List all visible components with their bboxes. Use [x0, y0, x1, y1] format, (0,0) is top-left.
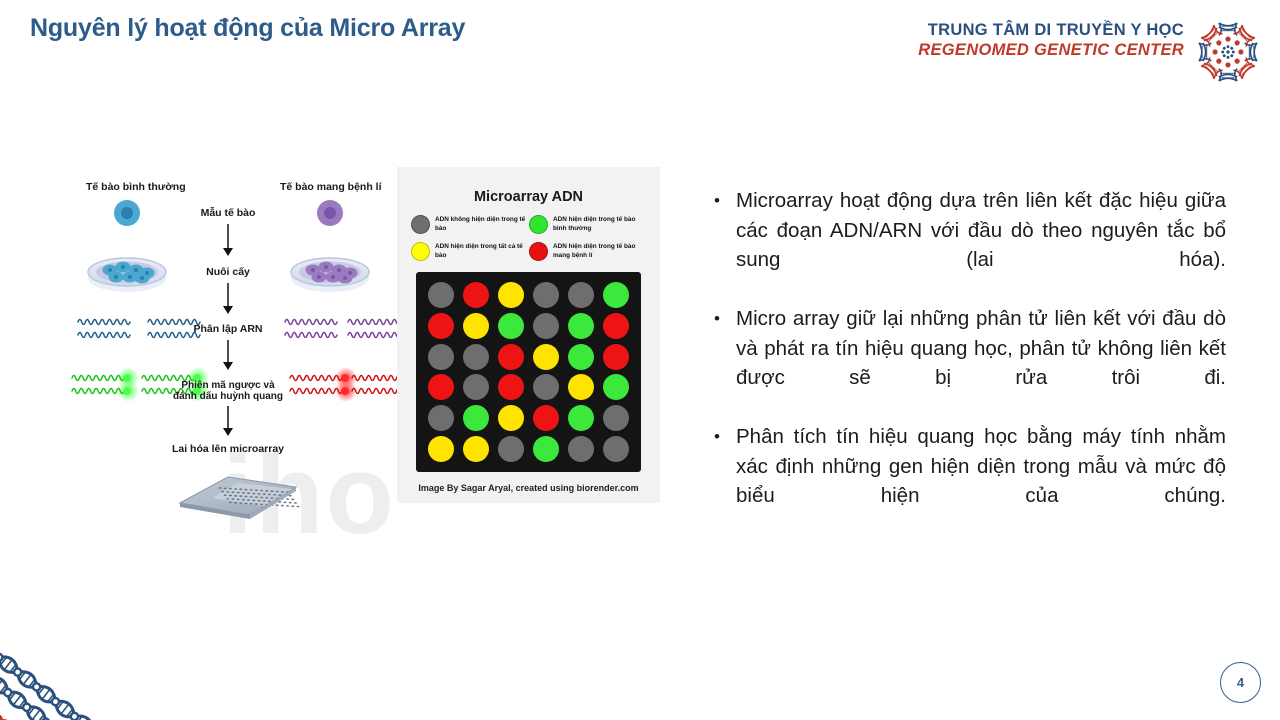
microarray-spot	[568, 282, 594, 308]
legend-label: ADN không hiện diện trong tế bào	[435, 216, 529, 233]
microarray-caption: Image By Sagar Aryal, created using bior…	[397, 483, 660, 493]
microarray-spot	[463, 405, 489, 431]
label-step-3: Phân lập ARN	[193, 323, 262, 335]
microarray-spot	[498, 282, 524, 308]
brand-name-en: REGENOMED GENETIC CENTER	[918, 40, 1184, 60]
workflow-diagram-svg: Tế bào bình thường Tế bào mang bệnh lí	[0, 150, 400, 550]
bullet-list: •Microarray hoạt động dựa trên liên kết …	[706, 186, 1226, 540]
slide-root: Nguyên lý hoạt động của Micro Array TRUN…	[0, 0, 1280, 720]
legend-color-swatch	[411, 242, 430, 261]
microarray-spot	[533, 282, 559, 308]
microarray-spot	[533, 405, 559, 431]
microarray-spot	[533, 374, 559, 400]
bullet-text: Micro array giữ lại những phân tử liên k…	[736, 304, 1226, 422]
label-step-1: Mẫu tế bào	[201, 206, 256, 219]
microarray-spot	[498, 405, 524, 431]
microarray-spot	[603, 436, 629, 462]
page-number-badge: 4	[1220, 662, 1261, 703]
microarray-spot-grid	[416, 272, 641, 472]
bullet-item: •Microarray hoạt động dựa trên liên kết …	[706, 186, 1226, 304]
label-step-4-line2: đánh dấu huỳnh quang	[173, 390, 283, 402]
microarray-spot	[568, 436, 594, 462]
bullet-marker-icon: •	[706, 304, 736, 422]
page-title: Nguyên lý hoạt động của Micro Array	[30, 14, 465, 43]
microarray-slide-illustration	[180, 477, 300, 519]
microarray-spot	[568, 344, 594, 370]
microarray-spot	[428, 405, 454, 431]
label-step-4-line1: Phiên mã ngược và	[181, 380, 275, 391]
microarray-spot	[603, 374, 629, 400]
microarray-spot	[428, 313, 454, 339]
bullet-text: Phân tích tín hiệu quang học bằng máy tí…	[736, 422, 1226, 540]
microarray-spot	[463, 344, 489, 370]
microarray-legend: ADN không hiện diện trong tế bàoADN hiện…	[411, 215, 647, 269]
microarray-spot	[428, 282, 454, 308]
microarray-spot	[498, 313, 524, 339]
bullet-item: •Phân tích tín hiệu quang học bằng máy t…	[706, 422, 1226, 540]
microarray-spot	[603, 282, 629, 308]
legend-label: ADN hiện diện trong tế bào bình thường	[553, 216, 647, 233]
microarray-spot	[498, 344, 524, 370]
microarray-spot	[463, 282, 489, 308]
legend-item: ADN hiện diện trong tất cả tế bào	[411, 242, 529, 261]
bullet-marker-icon: •	[706, 422, 736, 540]
microarray-spot	[568, 405, 594, 431]
brand-name-vi: TRUNG TÂM DI TRUYỀN Y HỌC	[918, 20, 1184, 40]
label-step-2: Nuôi cấy	[206, 266, 250, 278]
microarray-spot	[498, 436, 524, 462]
dna-corner-decoration-icon	[0, 585, 215, 720]
bullet-item: •Micro array giữ lại những phân tử liên …	[706, 304, 1226, 422]
microarray-spot	[603, 313, 629, 339]
legend-label: ADN hiện diện trong tế bào mang bệnh lí	[553, 243, 647, 260]
legend-color-swatch	[411, 215, 430, 234]
microarray-spot	[568, 374, 594, 400]
bullet-marker-icon: •	[706, 186, 736, 304]
label-normal-cell: Tế bào bình thường	[86, 181, 186, 193]
microarray-panel-title: Microarray ADN	[397, 189, 660, 205]
microarray-spot	[463, 436, 489, 462]
microarray-spot	[603, 405, 629, 431]
microarray-spot	[428, 436, 454, 462]
legend-color-swatch	[529, 215, 548, 234]
label-diseased-cell: Tế bào mang bệnh lí	[280, 181, 383, 193]
microarray-spot	[533, 344, 559, 370]
legend-label: ADN hiện diện trong tất cả tế bào	[435, 243, 529, 260]
legend-item: ADN hiện diện trong tế bào mang bệnh lí	[529, 242, 647, 261]
microarray-spot	[533, 436, 559, 462]
legend-item: ADN hiện diện trong tế bào bình thường	[529, 215, 647, 234]
dna-mandala-logo-icon	[1190, 14, 1266, 90]
microarray-spot	[603, 344, 629, 370]
label-step-5: Lai hóa lên microarray	[172, 443, 284, 455]
microarray-panel: Microarray ADN ADN không hiện diện trong…	[397, 167, 660, 503]
legend-item: ADN không hiện diện trong tế bào	[411, 215, 529, 234]
bullet-text: Microarray hoạt động dựa trên liên kết đ…	[736, 186, 1226, 304]
microarray-spot	[533, 313, 559, 339]
legend-color-swatch	[529, 242, 548, 261]
microarray-spot	[498, 374, 524, 400]
brand-block: TRUNG TÂM DI TRUYỀN Y HỌC REGENOMED GENE…	[918, 20, 1184, 60]
microarray-spot	[463, 374, 489, 400]
microarray-spot	[568, 313, 594, 339]
microarray-spot	[428, 374, 454, 400]
microarray-spot	[463, 313, 489, 339]
microarray-spot	[428, 344, 454, 370]
